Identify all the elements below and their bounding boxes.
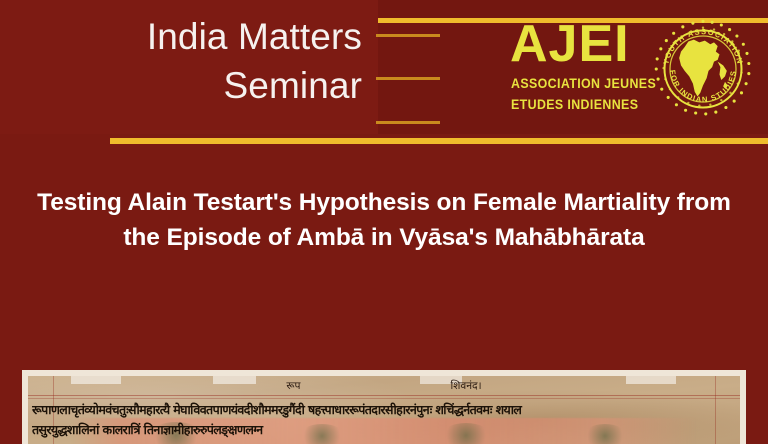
seminar-title-line2: Seminar (0, 61, 362, 110)
seminar-poster: India Matters Seminar AJEI ASSOCIATION J… (0, 0, 768, 444)
india-map-icon (679, 40, 728, 97)
decor-rule-bottom (110, 138, 768, 144)
manuscript-rule-2 (28, 398, 740, 399)
manuscript-text-line-1: रूपाणलाचृतंव्योमवंचतुःसौमहारत्यै मेघाविव… (32, 401, 736, 418)
ajei-emblem-icon: YOUTH ASSOCIATION FOR INDIAN STUDIES (648, 14, 758, 124)
decor-rule-2 (376, 77, 440, 80)
ajei-subtitle-2: ETUDES INDIENNES (511, 97, 638, 112)
manuscript-rule-1 (28, 395, 740, 396)
decor-rule-1 (376, 34, 440, 37)
ajei-wordmark: AJEI (510, 18, 630, 70)
seminar-title: India Matters Seminar (0, 12, 362, 110)
decor-rule-3 (376, 121, 440, 124)
header-band: India Matters Seminar AJEI ASSOCIATION J… (0, 0, 768, 146)
seminar-title-line1: India Matters (0, 12, 362, 61)
manuscript-caption-right: शिवनंद। (451, 379, 482, 393)
manuscript-caption-left: रूप (286, 379, 300, 393)
ajei-logo: AJEI ASSOCIATION JEUNES ETUDES INDIENNES (500, 18, 768, 130)
page-title: Testing Alain Testart's Hypothesis on Fe… (34, 186, 734, 256)
manuscript-image: रूप शिवनंद। रूपाणलाचृतंव्योमवंचतुःसौमहार… (22, 370, 746, 444)
ajei-subtitle-1: ASSOCIATION JEUNES (511, 76, 656, 91)
manuscript-text-line-2: तसुरयुद्धशालिनां कालरात्रिं तिनाज्ञामीहा… (32, 421, 736, 438)
manuscript-paper: रूप शिवनंद। रूपाणलाचृतंव्योमवंचतुःसौमहार… (28, 376, 740, 444)
manuscript-caption-row: रूप शिवनंद। (28, 379, 740, 393)
